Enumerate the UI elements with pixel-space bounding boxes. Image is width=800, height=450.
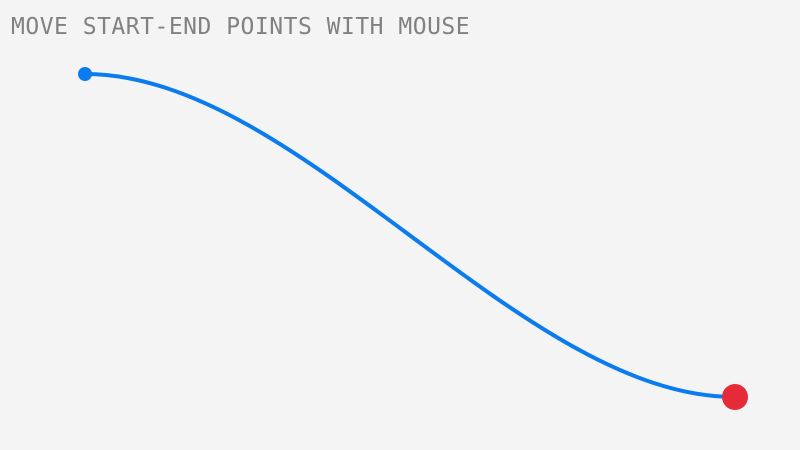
end-point-handle[interactable] bbox=[722, 384, 748, 410]
canvas-stage: MOVE START-END POINTS WITH MOUSE bbox=[0, 0, 800, 450]
start-point-handle[interactable] bbox=[78, 67, 92, 81]
bezier-curve bbox=[85, 74, 735, 397]
bezier-canvas[interactable] bbox=[0, 0, 800, 450]
